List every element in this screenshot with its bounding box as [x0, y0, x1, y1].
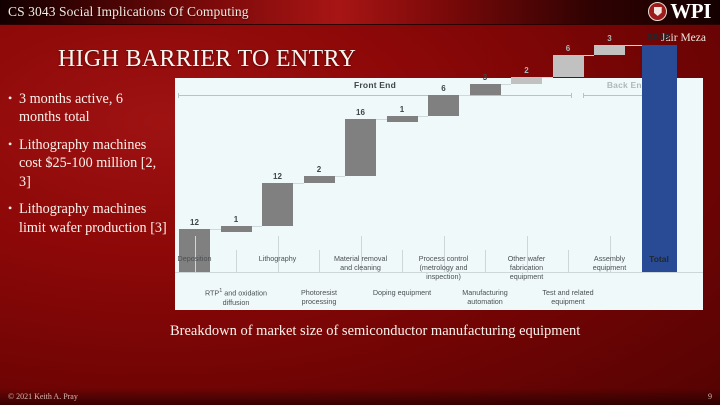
waterfall-bar	[221, 226, 252, 232]
bar-value-label: 12	[179, 218, 210, 227]
waterfall-connector	[501, 84, 512, 85]
bar-value-label: 12	[262, 172, 293, 181]
waterfall-connector	[210, 229, 221, 230]
list-item: • Lithography machines cost $25-100 mill…	[8, 136, 168, 191]
course-title: CS 3043 Social Implications Of Computing	[0, 4, 249, 20]
bar-value-label: 1	[221, 215, 252, 224]
bar-value-label: 2	[304, 165, 335, 174]
axis-tick	[319, 250, 320, 272]
bar-value-label: 16	[345, 108, 376, 117]
page-title: HIGH BARRIER TO ENTRY	[58, 46, 356, 73]
bullet-text: Lithography machines cost $25-100 millio…	[19, 136, 168, 191]
bullet-dot-icon: •	[8, 136, 19, 191]
category-label-total: Total	[638, 254, 681, 265]
group-range-line-front-end	[178, 95, 572, 96]
copyright-text: © 2021 Keith A. Pray	[8, 392, 78, 401]
bullet-text: Lithography machines limit wafer product…	[19, 200, 168, 237]
waterfall-connector	[252, 226, 263, 227]
bullet-text: 3 months active, 6 months total	[19, 90, 168, 127]
bar-value-label: 1	[387, 105, 418, 114]
waterfall-connector	[418, 116, 429, 117]
wpi-wordmark: WPI	[670, 1, 711, 22]
category-label: RTP1 and oxidation diffusion	[203, 288, 269, 307]
bullet-dot-icon: •	[8, 200, 19, 237]
category-label: Lithography	[245, 254, 311, 263]
category-label: Material removal and cleaning	[328, 254, 394, 272]
axis-tick	[236, 250, 237, 272]
chart-caption: Breakdown of market size of semiconducto…	[170, 322, 670, 340]
chart-plot-area: 12112216163263$64B	[175, 100, 703, 250]
category-label: Doping equipment	[369, 288, 435, 297]
category-label: Manufacturing automation	[452, 288, 518, 306]
wpi-logo: WPI	[648, 1, 711, 22]
bullet-list: • 3 months active, 6 months total • Lith…	[8, 90, 168, 246]
waterfall-bar	[511, 77, 542, 84]
category-label: Other wafer fabrication equipment	[494, 254, 560, 282]
category-label: Test and related equipment	[535, 288, 601, 306]
total-value-label: $64B	[638, 32, 681, 43]
waterfall-bar	[262, 183, 293, 226]
waterfall-bar	[470, 84, 501, 95]
slide-header: CS 3043 Social Implications Of Computing…	[0, 0, 720, 25]
axis-tick	[485, 250, 486, 272]
waterfall-bar	[387, 116, 418, 122]
waterfall-bar	[594, 45, 625, 56]
waterfall-connector	[584, 55, 595, 56]
list-item: • 3 months active, 6 months total	[8, 90, 168, 127]
category-label: Photoresist processing	[286, 288, 352, 306]
category-label: Deposition	[162, 254, 228, 263]
waterfall-bar	[345, 119, 376, 176]
waterfall-bar	[304, 176, 335, 183]
waterfall-connector	[376, 119, 387, 120]
waterfall-connector	[335, 176, 346, 177]
waterfall-chart: Front End Back End 12112216163263$64B De…	[175, 78, 703, 310]
category-label: Process control (metrology and inspectio…	[411, 254, 477, 282]
waterfall-bar	[428, 95, 459, 116]
bar-value-label: 6	[428, 84, 459, 93]
waterfall-bar	[553, 55, 584, 76]
bar-value-label: 6	[553, 44, 584, 53]
bullet-dot-icon: •	[8, 90, 19, 127]
waterfall-connector	[625, 45, 642, 46]
total-bar	[642, 45, 677, 272]
axis-tick	[568, 250, 569, 272]
slide-footer: © 2021 Keith A. Pray 9	[0, 388, 720, 405]
wpi-seal-icon	[648, 2, 667, 21]
bar-value-label: 3	[470, 73, 501, 82]
waterfall-connector	[542, 77, 553, 78]
bar-value-label: 2	[511, 66, 542, 75]
waterfall-connector	[459, 95, 470, 96]
waterfall-connector	[293, 183, 304, 184]
slide: CS 3043 Social Implications Of Computing…	[0, 0, 720, 405]
page-number: 9	[708, 392, 712, 401]
category-label: Assembly equipment	[577, 254, 643, 272]
bar-value-label: 3	[594, 34, 625, 43]
axis-tick	[402, 250, 403, 272]
list-item: • Lithography machines limit wafer produ…	[8, 200, 168, 237]
